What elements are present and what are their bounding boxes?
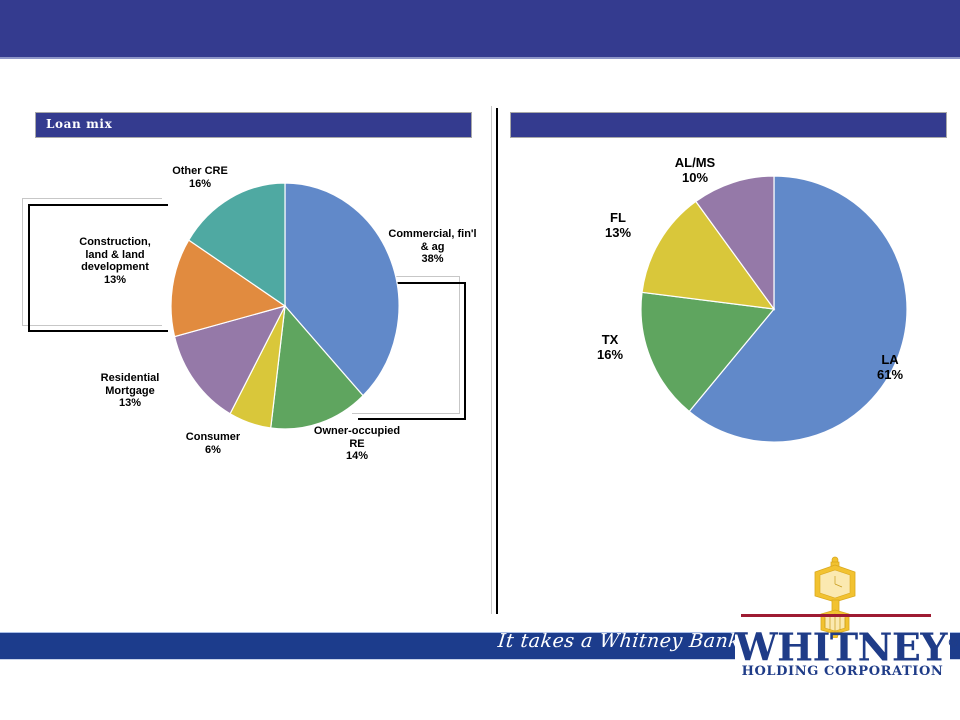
pie-label-tx: TX 16% bbox=[570, 332, 650, 362]
left-panel-title: Loan mix bbox=[46, 117, 112, 131]
pie-label-commercial-finl-ag: Commercial, fin'l & ag 38% bbox=[380, 228, 485, 266]
logo-wordmark: WHITNEY® bbox=[735, 624, 950, 668]
pie-label-residential-mortgage: Residential Mortgage 13% bbox=[80, 372, 180, 410]
pie-label-fl: FL 13% bbox=[578, 210, 658, 240]
loan-mix-pie-svg bbox=[170, 182, 400, 430]
pie-label-al-ms: AL/MS 10% bbox=[640, 155, 750, 185]
geography-pie-svg bbox=[640, 175, 908, 443]
pie-label-la: LA 61% bbox=[855, 352, 925, 382]
pie-label-owner-occupied-re: Owner-occupied RE 14% bbox=[307, 425, 407, 463]
loan-mix-pie-chart bbox=[170, 182, 400, 430]
registered-mark-icon: ® bbox=[947, 636, 960, 651]
pie-label-construction: Construction, land & land development 13… bbox=[60, 236, 170, 286]
logo-red-rule bbox=[741, 614, 931, 617]
logo-subtitle: HOLDING CORPORATION bbox=[735, 664, 950, 679]
pie-label-other-cre: Other CRE 16% bbox=[145, 165, 255, 190]
logo-wordmark-text: WHITNEY bbox=[735, 625, 947, 670]
header-band-underline bbox=[0, 57, 960, 59]
right-panel-title-bar bbox=[510, 112, 947, 138]
panel-divider bbox=[496, 108, 498, 614]
left-panel-title-bar: Loan mix bbox=[35, 112, 472, 138]
panel-divider-shadow bbox=[491, 106, 492, 614]
footer-tagline: It takes a Whitney Banker. bbox=[497, 630, 767, 652]
geography-pie-chart bbox=[640, 175, 908, 443]
pie-label-consumer: Consumer 6% bbox=[168, 431, 258, 456]
whitney-logo: WHITNEY® HOLDING CORPORATION bbox=[735, 556, 950, 686]
header-band bbox=[0, 0, 960, 57]
